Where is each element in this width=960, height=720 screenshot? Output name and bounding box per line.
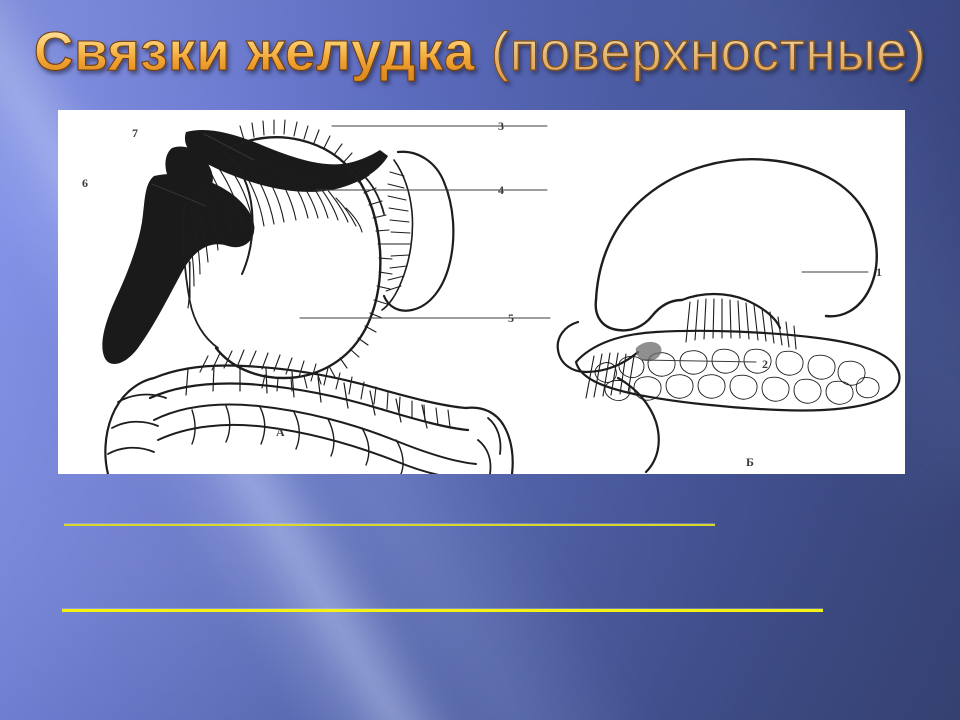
figure-caption-b: Б <box>746 455 754 470</box>
slide-title-main: Связки желудка <box>34 20 475 82</box>
anatomy-figure-panel[interactable]: 7 6 3 4 5 1 2 А Б <box>58 110 905 474</box>
bullet-separator-line-2 <box>62 609 823 612</box>
callout-label-4: 4 <box>498 183 504 198</box>
anatomy-illustration <box>58 110 905 474</box>
slide-title: Связки желудка (поверхностные) <box>0 12 960 90</box>
callout-label-1: 1 <box>876 265 882 280</box>
callout-label-7: 7 <box>132 126 138 141</box>
callout-label-6: 6 <box>82 176 88 191</box>
figure-caption-a: А <box>276 425 285 440</box>
slide-title-subtitle: (поверхностные) <box>475 20 926 82</box>
callout-label-5: 5 <box>508 311 514 326</box>
callout-label-3: 3 <box>498 119 504 134</box>
slide-canvas: Связки желудка (поверхностные) <box>0 0 960 720</box>
bullet-separator-line-1 <box>64 524 715 526</box>
callout-label-2: 2 <box>762 357 768 372</box>
